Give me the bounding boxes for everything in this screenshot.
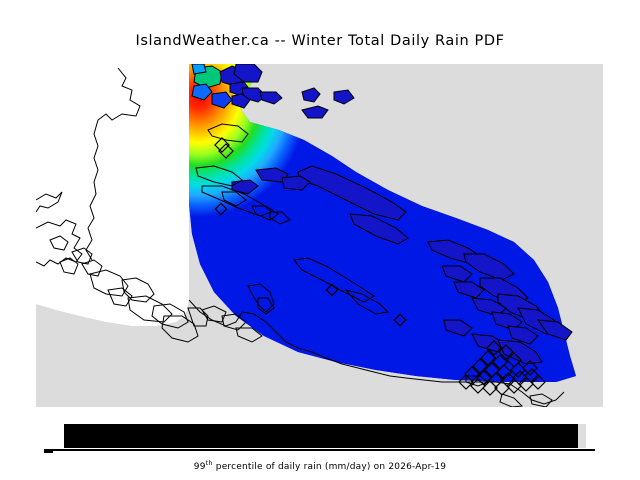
map-canvas[interactable]	[36, 64, 603, 407]
colorbar-axis-start-tick	[44, 451, 53, 453]
map-plot-area[interactable]	[36, 64, 603, 407]
colorbar-axis-line	[44, 449, 595, 451]
colorbar-caption: 99th percentile of daily rain (mm/day) o…	[0, 459, 640, 472]
caption-percentile: 99	[194, 462, 206, 472]
colorbar[interactable]	[64, 424, 586, 448]
colorbar-gradient	[64, 424, 578, 448]
caption-description: percentile of daily rain (mm/day) on 202…	[213, 462, 447, 472]
colorbar-overflow-swatch	[578, 424, 586, 448]
page-title: IslandWeather.ca -- Winter Total Daily R…	[0, 33, 640, 49]
caption-ordinal-suffix: th	[206, 459, 213, 467]
